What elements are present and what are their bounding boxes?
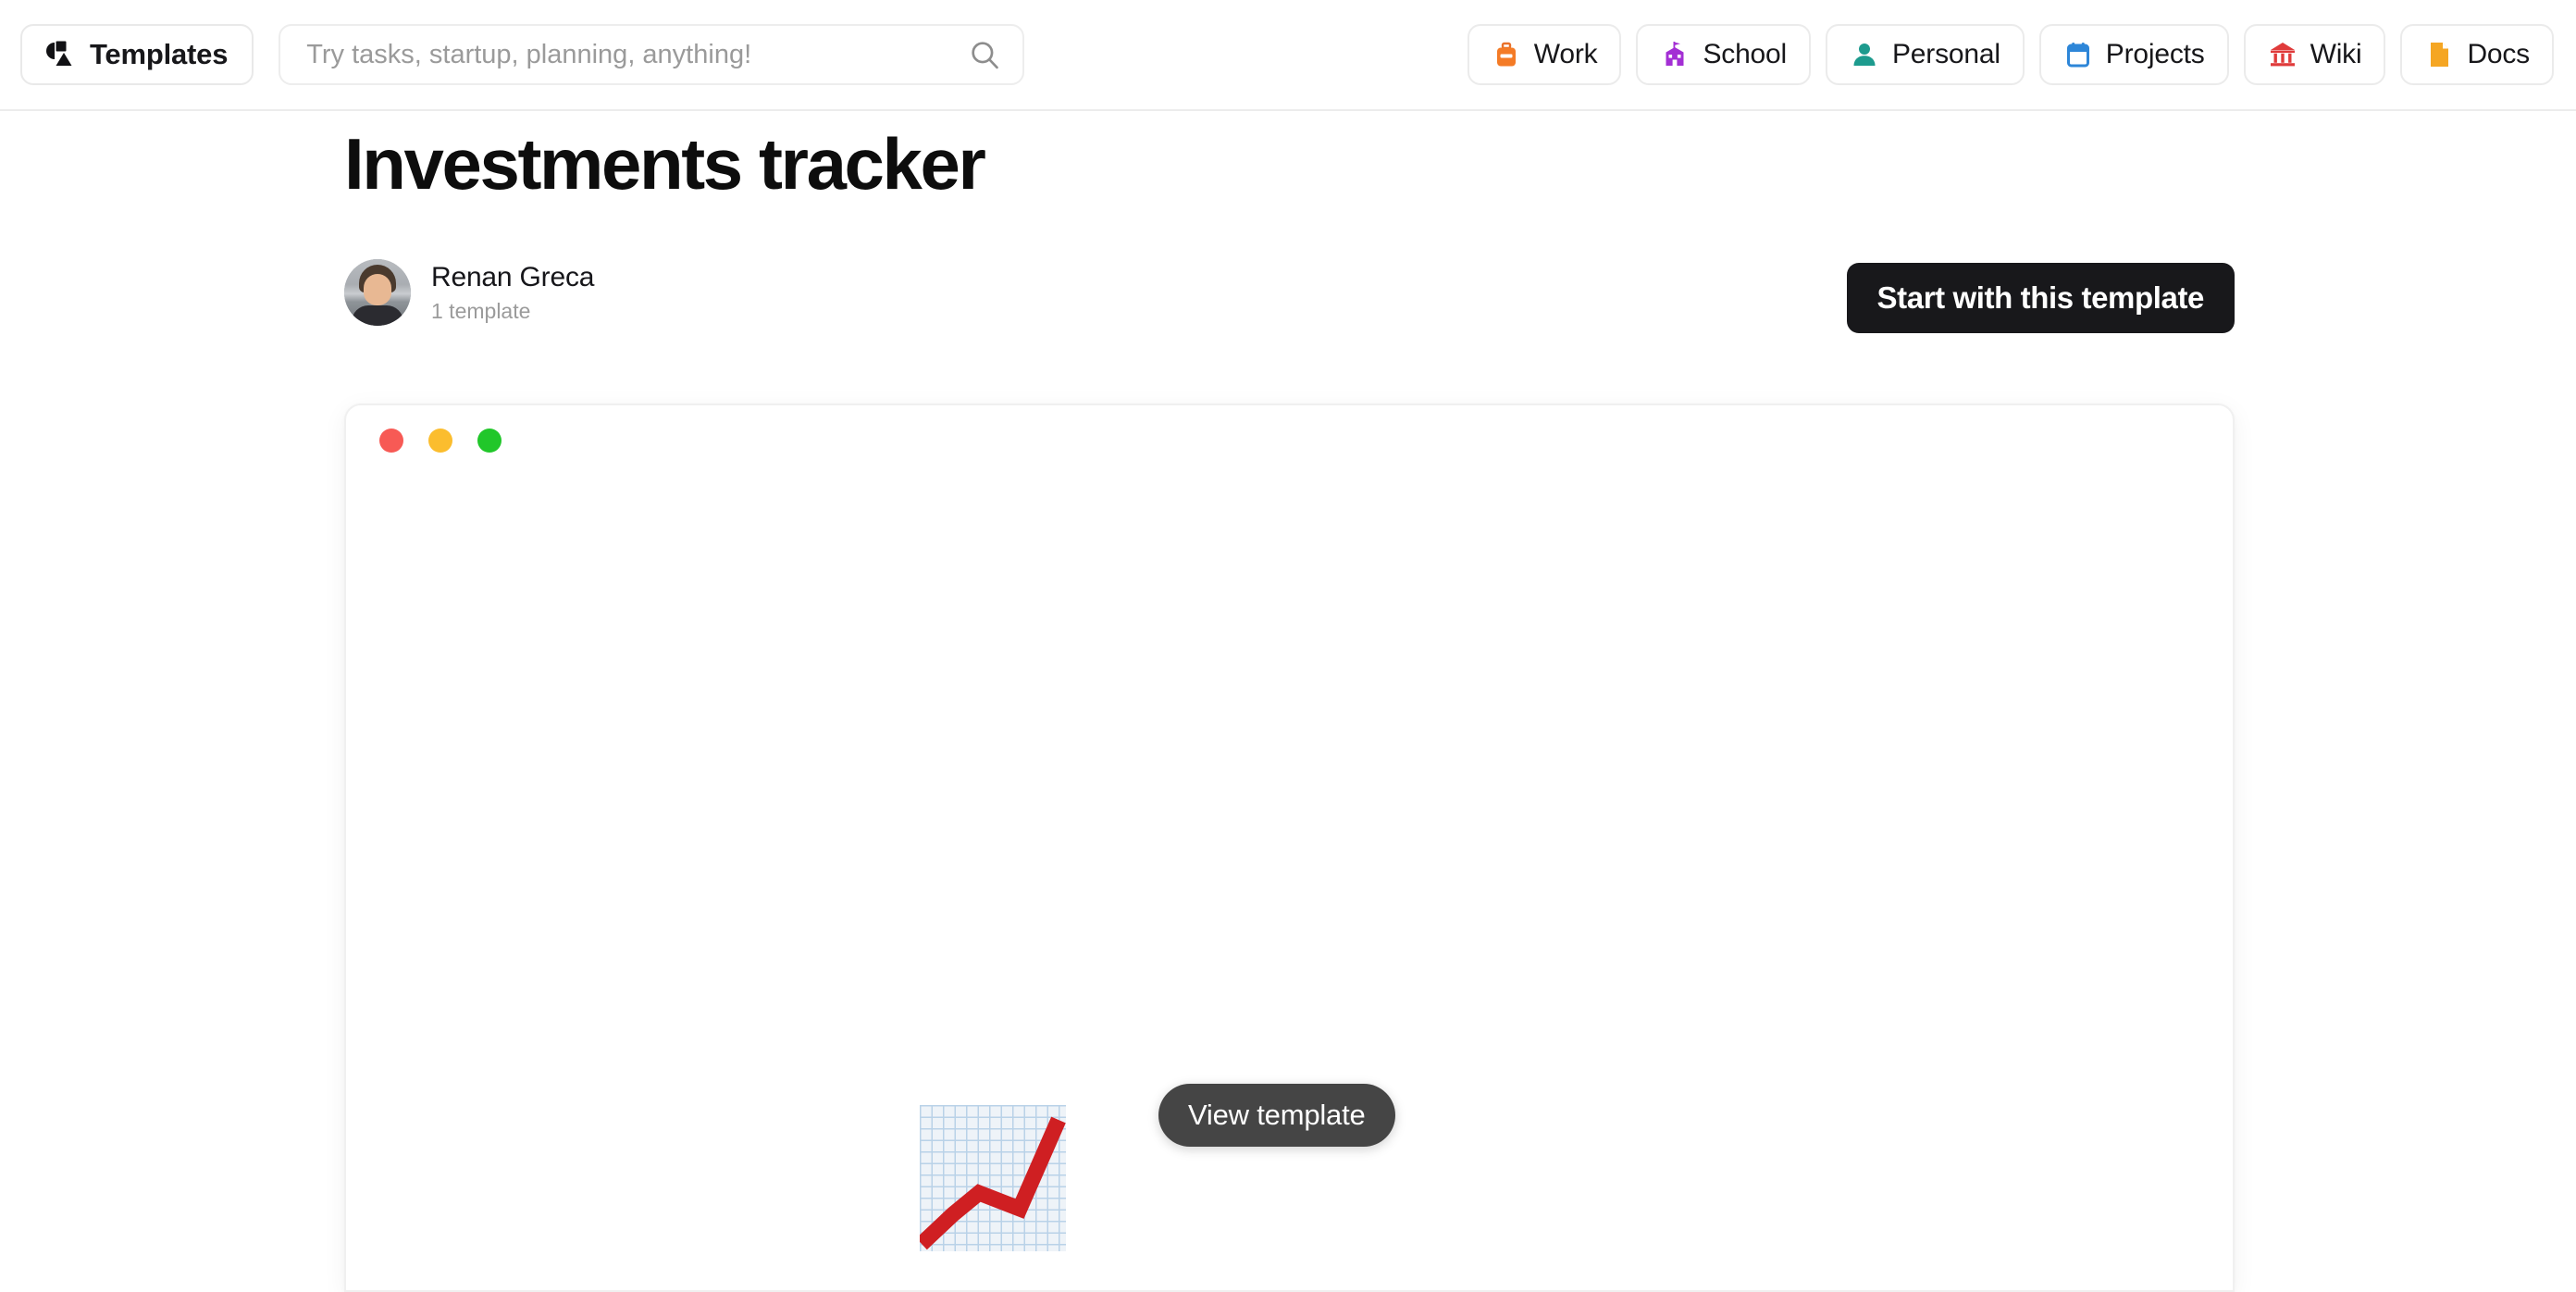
templates-home-button[interactable]: Templates bbox=[20, 24, 254, 85]
school-icon bbox=[1660, 40, 1690, 69]
author-name: Renan Greca bbox=[431, 262, 594, 294]
document-icon bbox=[2424, 40, 2454, 69]
nav-item-docs[interactable]: Docs bbox=[2400, 24, 2554, 85]
nav-item-projects-label: Projects bbox=[2106, 39, 2205, 70]
author-template-count: 1 template bbox=[431, 299, 594, 323]
bank-icon bbox=[2268, 40, 2297, 69]
avatar bbox=[344, 259, 411, 326]
page-content: Investments tracker Renan Greca 1 templa… bbox=[0, 111, 2576, 1286]
nav-item-projects[interactable]: Projects bbox=[2039, 24, 2229, 85]
nav-item-personal-label: Personal bbox=[1892, 39, 2000, 70]
nav-item-work[interactable]: Work bbox=[1468, 24, 1622, 85]
view-template-tooltip: View template bbox=[1158, 1084, 1395, 1147]
start-with-template-button[interactable]: Start with this template bbox=[1847, 263, 2235, 333]
top-header: Templates Work Scho bbox=[0, 0, 2576, 111]
nav-item-personal[interactable]: Personal bbox=[1826, 24, 2025, 85]
templates-shapes-icon bbox=[44, 41, 76, 68]
author-row[interactable]: Renan Greca 1 template bbox=[344, 259, 594, 326]
nav-item-wiki[interactable]: Wiki bbox=[2244, 24, 2386, 85]
search-input[interactable] bbox=[279, 24, 1024, 85]
nav-item-school[interactable]: School bbox=[1636, 24, 1811, 85]
nav-item-docs-label: Docs bbox=[2467, 39, 2530, 70]
close-dot[interactable] bbox=[379, 429, 403, 453]
chart-increasing-emoji bbox=[920, 1105, 1066, 1251]
briefcase-icon bbox=[1492, 40, 1521, 69]
maximize-dot[interactable] bbox=[477, 429, 502, 453]
minimize-dot[interactable] bbox=[428, 429, 452, 453]
nav-item-school-label: School bbox=[1703, 39, 1787, 70]
search-container[interactable] bbox=[279, 24, 1024, 85]
nav-item-wiki-label: Wiki bbox=[2310, 39, 2362, 70]
person-icon bbox=[1850, 40, 1879, 69]
templates-home-label: Templates bbox=[90, 38, 228, 71]
window-traffic-lights bbox=[379, 429, 502, 453]
page-title: Investments tracker bbox=[344, 128, 984, 200]
nav-item-work-label: Work bbox=[1534, 39, 1598, 70]
template-preview-card[interactable]: Investments tracker Investments (Templat… bbox=[344, 404, 2235, 1292]
author-text: Renan Greca 1 template bbox=[431, 262, 594, 324]
calendar-icon bbox=[2063, 40, 2093, 69]
category-nav: Work School Personal bbox=[1468, 24, 2556, 85]
